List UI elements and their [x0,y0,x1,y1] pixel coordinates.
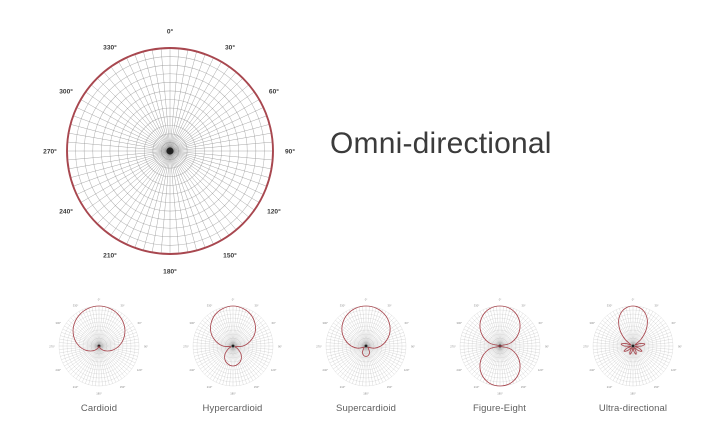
polar-grid [326,306,406,386]
angle-tick-300: 300° [189,321,195,325]
angle-tick-270: 270° [583,344,589,348]
angle-tick-270: 270° [49,344,55,348]
angle-tick-60: 60° [138,321,142,325]
angle-tick-300: 300° [456,321,462,325]
angle-tick-0: 0° [498,297,501,301]
angle-tick-150: 150° [120,385,126,389]
angle-tick-0: 0° [98,297,101,301]
angle-tick-180: 180° [96,391,102,395]
angle-label-180: 180° [163,268,177,276]
pattern-cell-hypercardioid: 0°30°60°90°120°150°180°210°240°270°300°3… [170,296,296,414]
angle-tick-270: 270° [316,344,322,348]
angle-tick-180: 180° [230,391,236,395]
angle-label-210: 210° [103,252,117,260]
angle-tick-210: 210° [73,385,79,389]
angle-tick-270: 270° [450,344,456,348]
angle-label-30: 30° [225,44,235,52]
omni-directional-polar-plot: 0°30°60°90°120°150°180°210°240°270°300°3… [42,18,308,286]
pattern-cell-ultra-directional: 0°30°60°90°120°150°180°210°240°270°300°3… [570,296,696,414]
pattern-caption-hypercardioid: Hypercardioid [203,403,263,414]
pattern-cell-cardioid: 0°30°60°90°120°150°180°210°240°270°300°3… [36,296,162,414]
angle-tick-0: 0° [632,297,635,301]
angle-tick-300: 300° [323,321,329,325]
angle-tick-180: 180° [630,391,636,395]
angle-tick-0: 0° [231,297,234,301]
slide-canvas: 0°30°60°90°120°150°180°210°240°270°300°3… [0,0,720,448]
angle-label-60: 60° [269,88,279,96]
polar-svg-supercardioid: 0°30°60°90°120°150°180°210°240°270°300°3… [312,296,420,401]
angle-tick-0: 0° [365,297,368,301]
angle-tick-240: 240° [456,368,462,372]
angle-tick-300: 300° [590,321,596,325]
angle-tick-90: 90° [544,344,548,348]
pattern-caption-ultra-directional: Ultra-directional [599,403,667,414]
angle-tick-330: 330° [473,304,479,308]
angle-tick-330: 330° [73,304,79,308]
angle-tick-240: 240° [56,368,62,372]
angle-tick-330: 330° [340,304,346,308]
angle-label-90: 90° [285,148,295,156]
angle-tick-240: 240° [189,368,195,372]
angle-tick-60: 60° [672,321,676,325]
angle-tick-150: 150° [654,385,660,389]
angle-label-0: 0° [167,28,174,36]
hero-title: Omni-directional [330,127,552,161]
angle-tick-60: 60° [538,321,542,325]
angle-tick-330: 330° [607,304,613,308]
angle-tick-210: 210° [206,385,212,389]
angle-label-330: 330° [103,44,117,52]
angle-tick-30: 30° [120,304,124,308]
polar-grid [593,306,673,386]
angle-tick-30: 30° [521,304,525,308]
angle-tick-210: 210° [340,385,346,389]
angle-label-240: 240° [59,208,73,216]
angle-tick-300: 300° [56,321,62,325]
angle-tick-270: 270° [183,344,189,348]
polar-svg-cardioid: 0°30°60°90°120°150°180°210°240°270°300°3… [45,296,153,401]
angle-label-120: 120° [267,208,281,216]
polar-plot-figure-eight: 0°30°60°90°120°150°180°210°240°270°300°3… [446,296,554,401]
polar-pattern-row: 0°30°60°90°120°150°180°210°240°270°300°3… [36,296,696,436]
angle-tick-180: 180° [497,391,503,395]
angle-tick-90: 90° [277,344,281,348]
angle-tick-120: 120° [537,368,543,372]
polar-plot-hypercardioid: 0°30°60°90°120°150°180°210°240°270°300°3… [179,296,287,401]
angle-tick-150: 150° [520,385,526,389]
polar-plot-supercardioid: 0°30°60°90°120°150°180°210°240°270°300°3… [312,296,420,401]
pattern-cell-figure-eight: 0°30°60°90°120°150°180°210°240°270°300°3… [437,296,563,414]
polar-svg-figure-eight: 0°30°60°90°120°150°180°210°240°270°300°3… [446,296,554,401]
angle-tick-120: 120° [404,368,410,372]
angle-tick-30: 30° [254,304,258,308]
angle-label-300: 300° [59,88,73,96]
angle-tick-330: 330° [206,304,212,308]
angle-tick-240: 240° [323,368,329,372]
pattern-caption-cardioid: Cardioid [81,403,117,414]
angle-tick-150: 150° [387,385,393,389]
angle-label-270: 270° [43,148,57,156]
omni-polar-svg: 0°30°60°90°120°150°180°210°240°270°300°3… [42,18,308,286]
pattern-cell-supercardioid: 0°30°60°90°120°150°180°210°240°270°300°3… [303,296,429,414]
angle-tick-120: 120° [671,368,677,372]
polar-grid [193,306,273,386]
angle-tick-120: 120° [270,368,276,372]
angle-label-150: 150° [223,252,237,260]
polar-plot-ultra-directional: 0°30°60°90°120°150°180°210°240°270°300°3… [579,296,687,401]
angle-tick-30: 30° [654,304,658,308]
polar-grid [67,48,273,254]
angle-tick-210: 210° [473,385,479,389]
pattern-caption-supercardioid: Supercardioid [336,403,396,414]
polar-svg-hypercardioid: 0°30°60°90°120°150°180°210°240°270°300°3… [179,296,287,401]
angle-tick-150: 150° [253,385,259,389]
angle-tick-180: 180° [363,391,369,395]
pattern-caption-figure-eight: Figure-Eight [473,403,526,414]
angle-tick-90: 90° [678,344,682,348]
angle-tick-60: 60° [271,321,275,325]
angle-tick-90: 90° [144,344,148,348]
angle-tick-30: 30° [387,304,391,308]
angle-tick-60: 60° [405,321,409,325]
angle-tick-90: 90° [411,344,415,348]
angle-tick-120: 120° [137,368,143,372]
polar-plot-cardioid: 0°30°60°90°120°150°180°210°240°270°300°3… [45,296,153,401]
polar-svg-ultra-directional: 0°30°60°90°120°150°180°210°240°270°300°3… [579,296,687,401]
angle-tick-210: 210° [607,385,613,389]
angle-tick-240: 240° [590,368,596,372]
